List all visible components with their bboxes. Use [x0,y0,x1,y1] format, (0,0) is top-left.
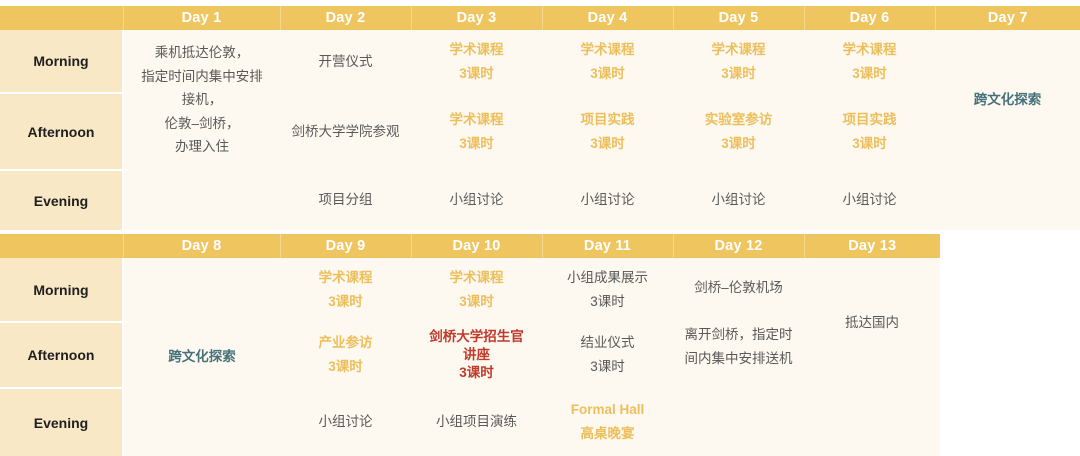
day-header-day-8: Day 8 [123,234,280,258]
day3-evening-text: 小组讨论 [415,188,538,212]
day-header-day-13: Day 13 [804,234,940,258]
day-header-day-11: Day 11 [542,234,673,258]
day7-activity: 跨文化探索 [939,88,1076,112]
schedule-page: Day 1 Day 2 Day 3 Day 4 Day 5 Day 6 Day … [0,0,1080,444]
day1-line-5: 办理入住 [128,135,276,159]
day11-morning-hours: 3课时 [546,290,669,314]
cell-day5-morning: 学术课程 3课时 [673,30,804,93]
cell-day6-afternoon: 项目实践 3课时 [804,93,935,170]
schedule-table-days-1-7: Day 1 Day 2 Day 3 Day 4 Day 5 Day 6 Day … [0,6,1080,230]
row-label-afternoon-2: Afternoon [0,322,123,388]
day-header-day-2: Day 2 [280,6,411,30]
day-header-day-3: Day 3 [411,6,542,30]
day12-line-2: 离开剑桥，指定时 [677,323,800,347]
cell-day7-allday: 跨文化探索 [935,30,1080,170]
cell-day13-allday: 抵达国内 [804,258,940,388]
day5-afternoon-activity: 实验室参访 [677,108,800,132]
corner-header-cell-2 [0,234,123,258]
cell-day12-evening [673,388,804,456]
day3-morning-hours: 3课时 [415,62,538,86]
cell-day3-evening: 小组讨论 [411,170,542,230]
cell-day4-morning: 学术课程 3课时 [542,30,673,93]
day4-morning-course: 学术课程 [546,38,669,62]
day10-afternoon-lecture-line-1: 剑桥大学招生官 [415,328,538,346]
row-label-evening-2: Evening [0,388,123,456]
table-two-header-row: Day 8 Day 9 Day 10 Day 11 Day 12 Day 13 [0,234,940,258]
cell-day4-evening: 小组讨论 [542,170,673,230]
day10-afternoon-hours: 3课时 [415,364,538,382]
day3-afternoon-hours: 3课时 [415,132,538,156]
day-header-day-10: Day 10 [411,234,542,258]
day9-evening-text: 小组讨论 [284,410,407,434]
day3-afternoon-course: 学术课程 [415,108,538,132]
day4-evening-text: 小组讨论 [546,188,669,212]
cell-day6-morning: 学术课程 3课时 [804,30,935,93]
day1-line-1: 乘机抵达伦敦， [128,41,276,65]
row-label-afternoon: Afternoon [0,93,123,170]
day11-afternoon-hours: 3课时 [546,355,669,379]
cell-day10-afternoon: 剑桥大学招生官 讲座 3课时 [411,322,542,388]
day9-afternoon-activity: 产业参访 [284,331,407,355]
day9-afternoon-hours: 3课时 [284,355,407,379]
day11-morning-activity: 小组成果展示 [546,266,669,290]
day-header-day-6: Day 6 [804,6,935,30]
cell-day6-evening: 小组讨论 [804,170,935,230]
day10-morning-course: 学术课程 [415,266,538,290]
cell-day7-evening [935,170,1080,230]
cell-day9-evening: 小组讨论 [280,388,411,456]
day-header-day-1: Day 1 [123,6,280,30]
cell-day13-evening [804,388,940,456]
day10-morning-hours: 3课时 [415,290,538,314]
day4-afternoon-hours: 3课时 [546,132,669,156]
day9-morning-hours: 3课时 [284,290,407,314]
row-label-evening: Evening [0,170,123,230]
day1-line-4: 伦敦–剑桥， [128,112,276,136]
day2-morning-text: 开营仪式 [284,50,407,74]
day10-afternoon-lecture-line-2: 讲座 [415,346,538,364]
table-one-header-row: Day 1 Day 2 Day 3 Day 4 Day 5 Day 6 Day … [0,6,1080,30]
cell-day4-afternoon: 项目实践 3课时 [542,93,673,170]
cell-day3-morning: 学术课程 3课时 [411,30,542,93]
day2-afternoon-text: 剑桥大学学院参观 [284,120,407,144]
day13-activity: 抵达国内 [808,311,936,335]
day11-afternoon-activity: 结业仪式 [546,331,669,355]
cell-day5-afternoon: 实验室参访 3课时 [673,93,804,170]
cell-day11-morning: 小组成果展示 3课时 [542,258,673,322]
day5-evening-text: 小组讨论 [677,188,800,212]
cell-day2-evening: 项目分组 [280,170,411,230]
cell-day1-evening [123,170,280,230]
cell-day5-evening: 小组讨论 [673,170,804,230]
day4-morning-hours: 3课时 [546,62,669,86]
day12-line-1: 剑桥–伦敦机场 [677,276,800,300]
day6-afternoon-activity: 项目实践 [808,108,931,132]
day6-morning-hours: 3课时 [808,62,931,86]
row-label-morning-2: Morning [0,258,123,322]
day5-morning-course: 学术课程 [677,38,800,62]
day8-activity: 跨文化探索 [128,345,276,369]
schedule-table-days-8-13: Day 8 Day 9 Day 10 Day 11 Day 12 Day 13 … [0,234,940,456]
day-header-day-9: Day 9 [280,234,411,258]
day3-morning-course: 学术课程 [415,38,538,62]
day12-line-3: 间内集中安排送机 [677,347,800,371]
cell-day2-morning: 开营仪式 [280,30,411,93]
day6-afternoon-hours: 3课时 [808,132,931,156]
table-one-morning-row: Morning 乘机抵达伦敦， 指定时间内集中安排 接机， 伦敦–剑桥， 办理入… [0,30,1080,93]
cell-day2-afternoon: 剑桥大学学院参观 [280,93,411,170]
day11-evening-formal-hall: Formal Hall [546,398,669,422]
day2-evening-text: 项目分组 [284,188,407,212]
day-header-day-5: Day 5 [673,6,804,30]
cell-day12-transfer: 剑桥–伦敦机场 离开剑桥，指定时 间内集中安排送机 [673,258,804,388]
cell-day9-afternoon: 产业参访 3课时 [280,322,411,388]
day4-afternoon-activity: 项目实践 [546,108,669,132]
day-header-day-12: Day 12 [673,234,804,258]
day5-morning-hours: 3课时 [677,62,800,86]
cell-day11-afternoon: 结业仪式 3课时 [542,322,673,388]
cell-day10-morning: 学术课程 3课时 [411,258,542,322]
day-header-day-7: Day 7 [935,6,1080,30]
day6-evening-text: 小组讨论 [808,188,931,212]
table-one-evening-row: Evening 项目分组 小组讨论 小组讨论 小组讨论 小组讨论 [0,170,1080,230]
day1-line-3: 接机， [128,88,276,112]
cell-day9-morning: 学术课程 3课时 [280,258,411,322]
day5-afternoon-hours: 3课时 [677,132,800,156]
row-label-morning: Morning [0,30,123,93]
day6-morning-course: 学术课程 [808,38,931,62]
cell-day8-allday: 跨文化探索 [123,258,280,456]
day-header-day-4: Day 4 [542,6,673,30]
cell-day1-arrival: 乘机抵达伦敦， 指定时间内集中安排 接机， 伦敦–剑桥， 办理入住 [123,30,280,170]
cell-day11-evening: Formal Hall 高桌晚宴 [542,388,673,456]
corner-header-cell [0,6,123,30]
day11-evening-dinner: 高桌晚宴 [546,422,669,446]
day9-morning-course: 学术课程 [284,266,407,290]
cell-day3-afternoon: 学术课程 3课时 [411,93,542,170]
day1-line-2: 指定时间内集中安排 [128,65,276,89]
table-two-morning-row: Morning 跨文化探索 学术课程 3课时 学术课程 3课时 小组成果展示 3… [0,258,940,322]
day10-evening-text: 小组项目演练 [415,410,538,434]
cell-day10-evening: 小组项目演练 [411,388,542,456]
